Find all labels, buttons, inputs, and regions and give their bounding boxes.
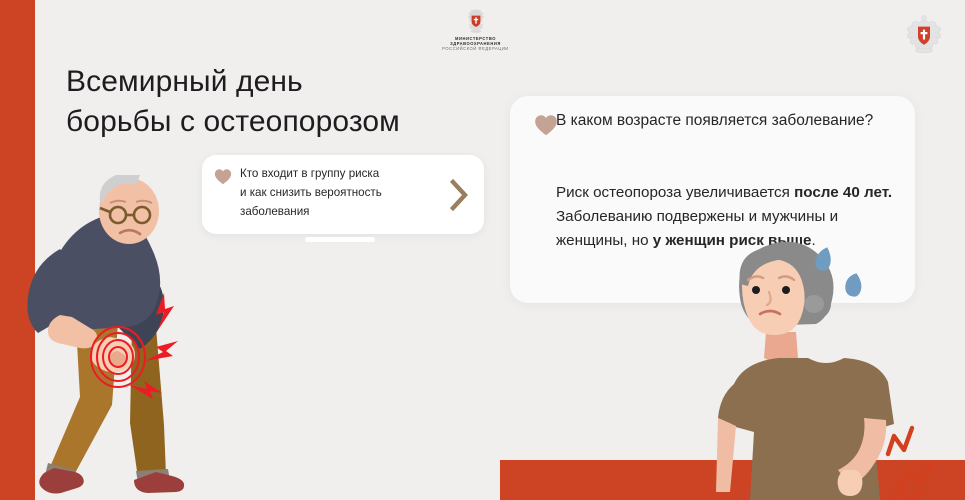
age-question-line-2: заболевание?	[772, 112, 874, 129]
ministry-logo-text: МИНИСТЕРСТВО ЗДРАВООХРАНЕНИЯ РОССИЙСКОЙ …	[442, 36, 509, 51]
ministry-line-3: РОССИЙСКОЙ ФЕДЕРАЦИИ	[442, 46, 509, 51]
roszdravnadzor-eagle-emblem-icon	[901, 13, 947, 55]
risk-group-line-1: Кто входит в группу риска	[240, 165, 438, 184]
page-title-line-1: Всемирный день	[66, 65, 303, 98]
risk-group-card-content: Кто входит в группу риска и как снизить …	[214, 165, 438, 221]
elderly-man-knee-pain-illustration	[14, 175, 224, 500]
page-title-line-2: борьбы с остеопорозом	[66, 102, 486, 142]
answer-segment-2-bold: после 40 лет.	[794, 184, 892, 201]
ministry-logo: МИНИСТЕРСТВО ЗДРАВООХРАНЕНИЯ РОССИЙСКОЙ …	[413, 8, 538, 60]
risk-group-line-3: заболевания	[240, 203, 438, 222]
slide-canvas: МИНИСТЕРСТВО ЗДРАВООХРАНЕНИЯ РОССИЙСКОЙ …	[0, 0, 965, 500]
risk-group-card-text: Кто входит в группу риска и как снизить …	[240, 165, 438, 221]
russian-eagle-medical-emblem-icon	[459, 8, 493, 34]
risk-group-line-2: и как снизить вероятность	[240, 184, 438, 203]
age-question-line-1: В каком возрасте появляется	[556, 112, 767, 129]
age-question-text: В каком возрасте появляется заболевание?	[556, 110, 906, 132]
answer-segment-1: Риск остеопороза увеличивается	[556, 184, 794, 201]
heart-icon	[534, 114, 558, 136]
elderly-woman-back-pain-illustration	[716, 238, 961, 500]
agency-logo	[898, 8, 950, 60]
risk-group-card[interactable]: Кто входит в группу риска и как снизить …	[202, 155, 484, 234]
page-title: Всемирный день борьбы с остеопорозом	[66, 62, 486, 142]
chevron-right-icon[interactable]	[446, 178, 472, 212]
card-stack-indicator	[305, 237, 375, 242]
